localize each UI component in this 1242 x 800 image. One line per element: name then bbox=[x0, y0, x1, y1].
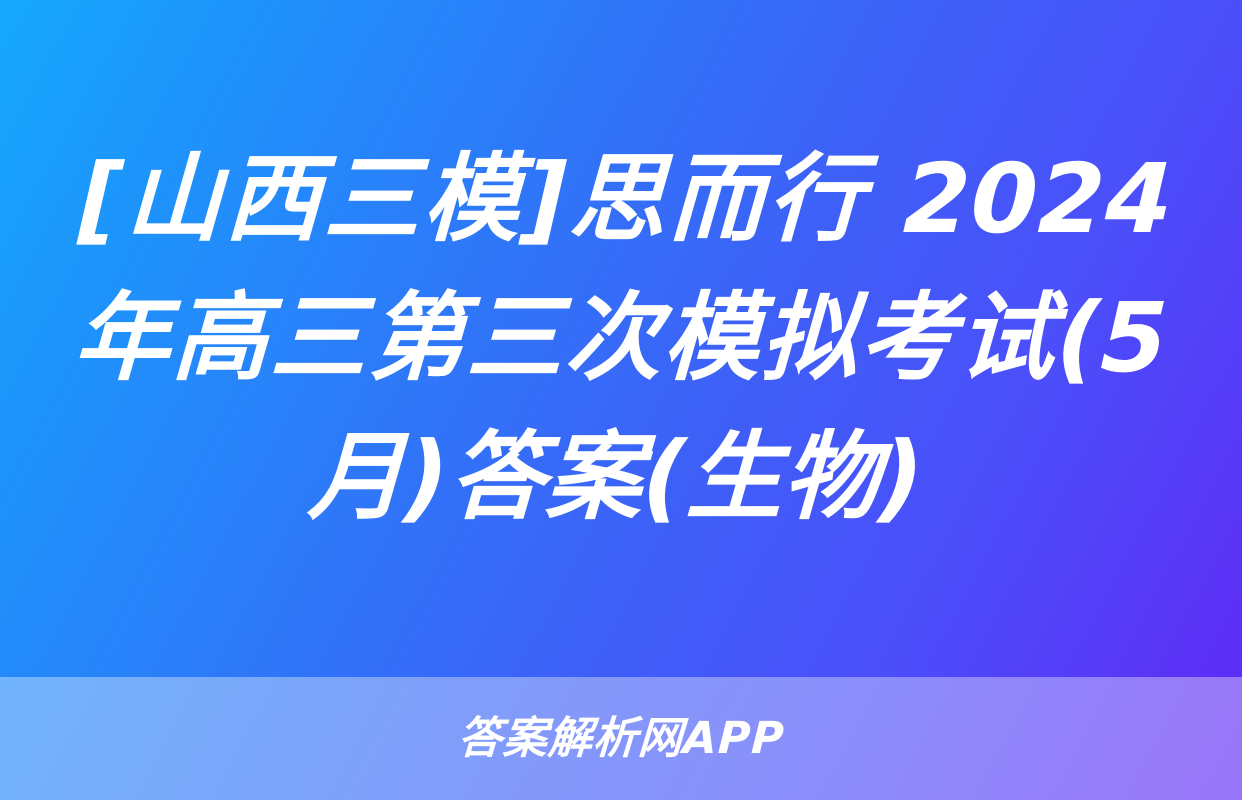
footer-watermark-band: 答案解析网APP bbox=[0, 677, 1242, 800]
watermark-text: 答案解析网APP bbox=[457, 717, 786, 761]
answer-poster-banner: [山西三模]思而行 2024年高三第三次模拟考试(5月)答案(生物) 答案解析网… bbox=[0, 0, 1242, 800]
page-title: [山西三模]思而行 2024年高三第三次模拟考试(5月)答案(生物) bbox=[67, 130, 1176, 547]
title-area: [山西三模]思而行 2024年高三第三次模拟考试(5月)答案(生物) bbox=[0, 0, 1242, 677]
